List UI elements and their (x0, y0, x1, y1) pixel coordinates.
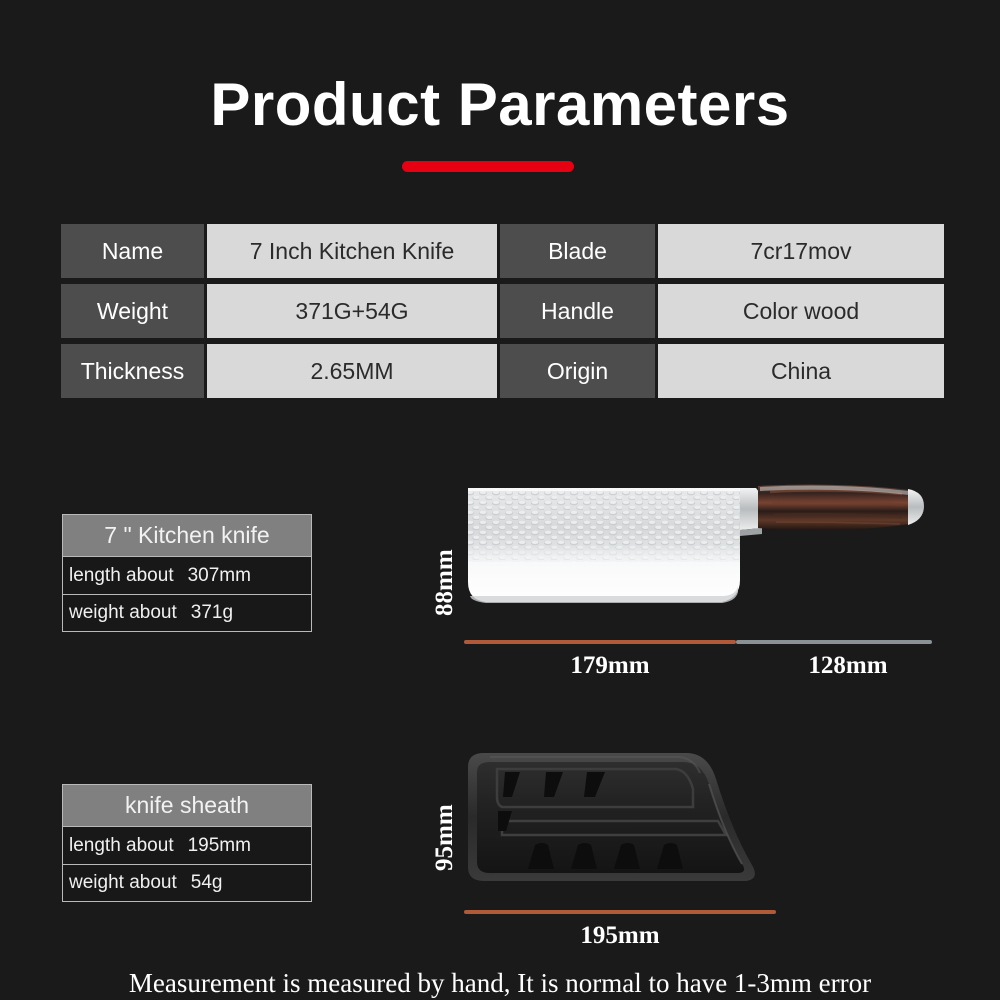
sheath-length-label: 195mm (510, 922, 730, 950)
sheath-length-value: 195mm (188, 835, 251, 857)
knife-sheath-image (450, 745, 790, 905)
knife-blade-length-label: 179mm (500, 652, 720, 680)
sheath-spec-box: knife sheath length about 195mm weight a… (62, 784, 312, 902)
knife-spec-row-length: length about 307mm (63, 557, 311, 594)
param-key-thickness: Thickness (61, 344, 204, 398)
knife-height-label: 88mm (431, 536, 459, 616)
kitchen-knife-image (440, 470, 940, 630)
param-key-blade: Blade (500, 224, 655, 278)
knife-length-value: 307mm (188, 565, 251, 587)
knife-spec-row-weight: weight about 371g (63, 594, 311, 631)
param-key-handle: Handle (500, 284, 655, 338)
sheath-length-label: length about (69, 835, 174, 857)
knife-weight-label: weight about (69, 602, 177, 624)
param-key-weight: Weight (61, 284, 204, 338)
param-key-origin: Origin (500, 344, 655, 398)
param-value-name: 7 Inch Kitchen Knife (207, 224, 497, 278)
sheath-height-label: 95mm (431, 791, 459, 871)
sheath-weight-label: weight about (69, 872, 177, 894)
knife-spec-box: 7 " Kitchen knife length about 307mm wei… (62, 514, 312, 632)
knife-spec-heading: 7 " Kitchen knife (63, 515, 311, 557)
param-value-handle: Color wood (658, 284, 944, 338)
measurement-disclaimer: Measurement is measured by hand, It is n… (0, 968, 1000, 999)
sheath-weight-value: 54g (191, 872, 223, 894)
knife-length-label: length about (69, 565, 174, 587)
param-value-weight: 371G+54G (207, 284, 497, 338)
title-underline-accent (402, 161, 574, 172)
parameters-table: Name 7 Inch Kitchen Knife Blade 7cr17mov… (61, 224, 938, 398)
product-parameters-page: Product Parameters Name 7 Inch Kitchen K… (0, 0, 1000, 1000)
param-value-origin: China (658, 344, 944, 398)
param-key-name: Name (61, 224, 204, 278)
knife-blade-length-bar (464, 640, 736, 644)
param-value-blade: 7cr17mov (658, 224, 944, 278)
sheath-spec-row-weight: weight about 54g (63, 864, 311, 901)
knife-weight-value: 371g (191, 602, 233, 624)
knife-handle-length-label: 128mm (738, 652, 958, 680)
sheath-length-bar (464, 910, 776, 914)
sheath-spec-row-length: length about 195mm (63, 827, 311, 864)
page-title: Product Parameters (0, 70, 1000, 139)
knife-handle-length-bar (736, 640, 932, 644)
param-value-thickness: 2.65MM (207, 344, 497, 398)
sheath-spec-heading: knife sheath (63, 785, 311, 827)
